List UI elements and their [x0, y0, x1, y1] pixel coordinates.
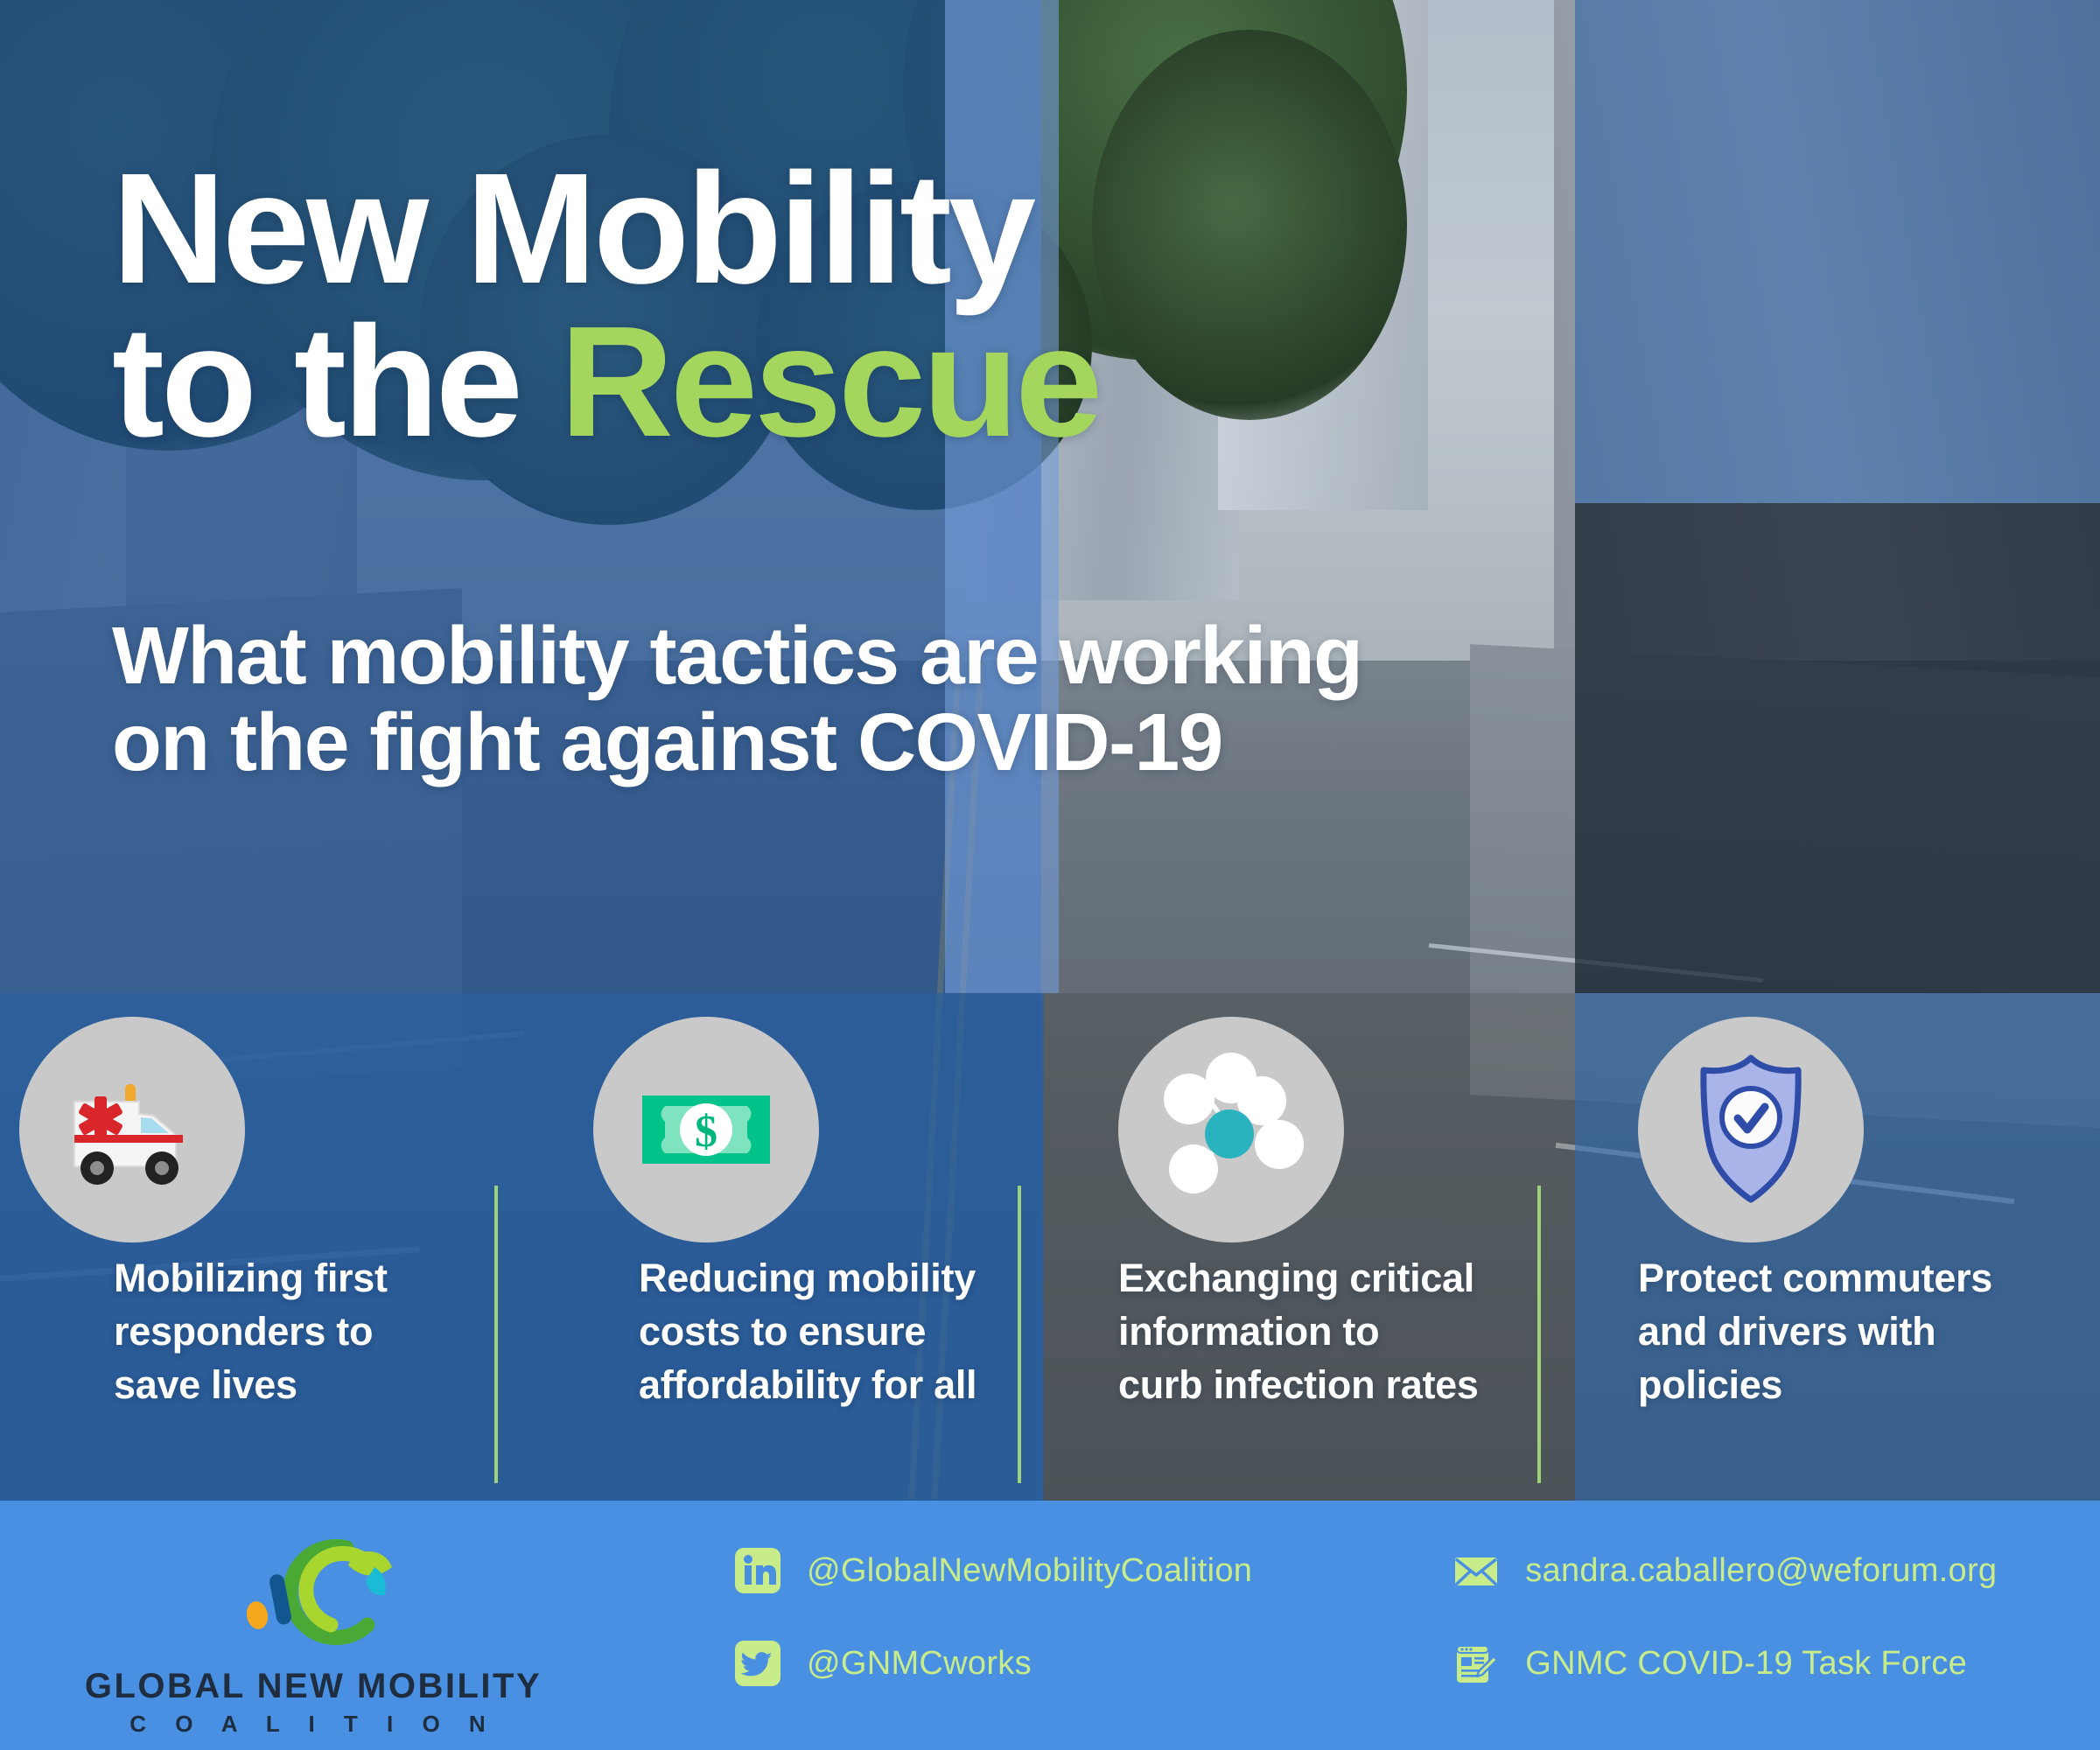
- subheadline: What mobility tactics are working on the…: [112, 612, 1361, 785]
- feature-card-icon-wrap: $: [525, 1017, 1050, 1242]
- headline: New Mobility to the Rescue: [112, 153, 1099, 458]
- footer-social-column: @GlobalNewMobilityCoalition @GNMCworks: [735, 1548, 1252, 1686]
- svg-text:$: $: [695, 1107, 717, 1157]
- headline-accent-word: Rescue: [560, 294, 1099, 470]
- feature-card-text-line-1: Mobilizing first: [114, 1251, 388, 1305]
- headline-line-2-plain: to the: [112, 294, 560, 470]
- feature-card-text-line-1: Reducing mobility: [639, 1251, 976, 1305]
- footer-contact-label: GNMC COVID-19 Task Force: [1525, 1645, 1967, 1683]
- headline-line-2: to the Rescue: [112, 306, 1099, 459]
- banknote-dollar-icon: $: [632, 1055, 780, 1204]
- icon-circle-background: [1118, 1017, 1344, 1242]
- feature-card-icon-wrap: [1575, 1017, 2100, 1242]
- feature-card-text-line-2: and drivers with: [1638, 1305, 1992, 1358]
- linkedin-icon[interactable]: [735, 1548, 780, 1593]
- overlay-panel-center-clear: [1041, 0, 1575, 993]
- feature-card-first-responders: Mobilizing first responders to save live…: [0, 1006, 525, 1496]
- overlay-panel-right-dark: [1575, 503, 2100, 993]
- feature-card-row: Mobilizing first responders to save live…: [0, 1006, 2100, 1496]
- feature-card-text: Protect commuters and drivers with polic…: [1638, 1251, 1992, 1412]
- envelope-icon[interactable]: [1453, 1548, 1499, 1593]
- document-edit-icon[interactable]: [1453, 1641, 1499, 1686]
- feature-card-text-line-1: Exchanging critical: [1118, 1251, 1479, 1305]
- icon-circle-background: [19, 1017, 245, 1242]
- feature-card-text-line-1: Protect commuters: [1638, 1251, 1992, 1305]
- footer-reach-column: sandra.caballero@weforum.org: [1453, 1548, 1997, 1686]
- footer-contact-twitter[interactable]: @GNMCworks: [735, 1641, 1252, 1686]
- twitter-icon[interactable]: [735, 1641, 780, 1686]
- footer-contact-label: @GNMCworks: [807, 1645, 1032, 1683]
- footer-contact-label: @GlobalNewMobilityCoalition: [807, 1552, 1252, 1590]
- subheadline-line-1: What mobility tactics are working: [112, 612, 1361, 699]
- feature-card-text: Mobilizing first responders to save live…: [114, 1251, 388, 1412]
- footer-contact-task-force[interactable]: GNMC COVID-19 Task Force: [1453, 1641, 1997, 1686]
- icon-circle-background: $: [593, 1017, 819, 1242]
- logo-subname: C O A L I T I O N: [77, 1711, 549, 1738]
- footer-contact-label: sandra.caballero@weforum.org: [1525, 1552, 1997, 1590]
- subheadline-line-2: on the fight against COVID-19: [112, 699, 1361, 786]
- overlay-panel-right-top-blue: [1575, 0, 2100, 503]
- brand-logo[interactable]: GLOBAL NEW MOBILITY C O A L I T I O N: [77, 1516, 549, 1735]
- footer-bar: GLOBAL NEW MOBILITY C O A L I T I O N @G…: [0, 1501, 2100, 1750]
- footer-contact-linkedin[interactable]: @GlobalNewMobilityCoalition: [735, 1548, 1252, 1593]
- feature-card-text: Exchanging critical information to curb …: [1118, 1251, 1479, 1412]
- feature-card-text-line-3: policies: [1638, 1358, 1992, 1411]
- feature-card-text-line-3: curb infection rates: [1118, 1358, 1479, 1411]
- feature-card-information-exchange: Exchanging critical information to curb …: [1050, 1006, 1575, 1496]
- ambulance-icon: [53, 1051, 211, 1208]
- feature-card-icon-wrap: [0, 1017, 525, 1242]
- feature-card-text-line-3: save lives: [114, 1358, 388, 1411]
- infographic-poster: New Mobility to the Rescue What mobility…: [0, 0, 2100, 1750]
- feature-card-icon-wrap: [1050, 1017, 1575, 1242]
- headline-line-1: New Mobility: [112, 153, 1099, 306]
- feature-card-text-line-2: costs to ensure: [639, 1305, 976, 1358]
- network-nodes-icon: [1148, 1046, 1314, 1213]
- feature-card-text-line-3: affordability for all: [639, 1358, 976, 1411]
- feature-card-text-line-2: responders to: [114, 1305, 388, 1358]
- feature-card-text: Reducing mobility costs to ensure afford…: [639, 1251, 976, 1412]
- feature-card-protect-commuters: Protect commuters and drivers with polic…: [1575, 1006, 2100, 1496]
- feature-card-mobility-costs: $ Reducing mobility costs to ensure affo…: [525, 1006, 1050, 1496]
- footer-contacts: @GlobalNewMobilityCoalition @GNMCworks: [735, 1548, 1997, 1686]
- gnmc-logo-icon: [243, 1527, 418, 1658]
- footer-contact-email[interactable]: sandra.caballero@weforum.org: [1453, 1548, 1997, 1593]
- logo-name: GLOBAL NEW MOBILITY: [77, 1667, 549, 1706]
- shield-check-icon: [1672, 1049, 1830, 1211]
- icon-circle-background: [1638, 1017, 1864, 1242]
- feature-card-text-line-2: information to: [1118, 1305, 1479, 1358]
